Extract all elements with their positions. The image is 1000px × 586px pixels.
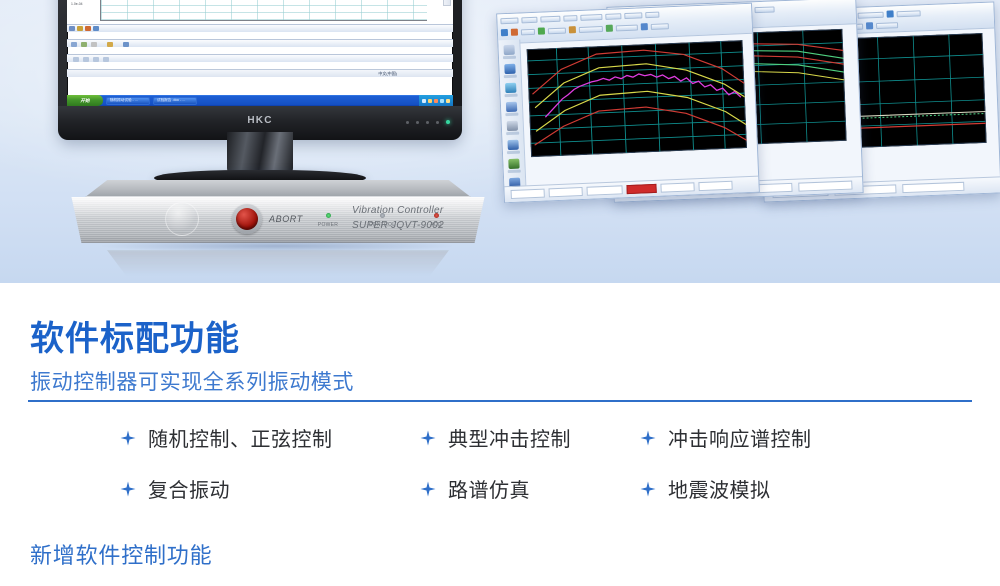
feature-item-0: 随机控制、正弦控制 (120, 423, 420, 452)
product-nameplate: Vibration Controller SUPER JQVT-9002 (352, 204, 444, 233)
system-tray[interactable] (419, 95, 453, 106)
hardware-reflection (92, 250, 464, 280)
monitor: 0.0010 1.0e-04 (58, 0, 462, 140)
taskbar-button-0[interactable]: 随机振动试验 - ... (106, 97, 150, 105)
features-section: 软件标配功能 振动控制器可实现全系列振动模式 随机控制、正弦控制 典型冲击控制 (0, 283, 1000, 586)
feature-item-4: 路谱仿真 (420, 474, 640, 503)
feature-item-2: 冲击响应谱控制 (640, 423, 980, 452)
monitor-indicator-leds (406, 120, 450, 124)
feature-item-3: 复合振动 (120, 474, 420, 503)
plot-random-vibration-psd (527, 40, 747, 157)
power-led (326, 213, 331, 218)
screen-toolbar-1[interactable] (67, 24, 453, 32)
chassis-top-panel (84, 180, 472, 198)
hero-banner: 0.0010 1.0e-04 (0, 0, 1000, 283)
sparkle-icon (640, 481, 656, 497)
feature-label: 冲击响应谱控制 (668, 423, 812, 452)
feature-label: 复合振动 (148, 474, 230, 503)
feature-label: 地震波模拟 (668, 474, 771, 503)
software-window-random-vibration-psd[interactable] (496, 3, 760, 204)
next-section-title: 新增软件控制功能 (30, 545, 212, 567)
screen-vertical-scrollbar[interactable] (443, 0, 451, 6)
sparkle-icon (420, 430, 436, 446)
sparkle-icon (120, 430, 136, 446)
screen-chart-trace (381, 0, 443, 24)
section-subtitle: 振动控制器可实现全系列振动模式 (30, 372, 354, 393)
section-title: 软件标配功能 (30, 322, 240, 356)
product-name-line1: Vibration Controller (352, 204, 444, 219)
feature-label: 典型冲击控制 (448, 423, 571, 452)
product-detail-page: 0.0010 1.0e-04 (0, 0, 1000, 586)
screen-taskbar[interactable]: 开始 随机振动试验 - ... 试验报告 .doc - ... (67, 95, 453, 106)
screen-toolbar-2[interactable] (67, 39, 453, 47)
taskbar-button-1[interactable]: 试验报告 .doc - ... (153, 97, 197, 105)
power-knob[interactable] (165, 202, 199, 236)
screen-chart: 0.0010 1.0e-04 (67, 0, 453, 24)
screen-ime-indicator: 中文(中国) (378, 71, 397, 77)
screen-status-bar: 中文(中国) (67, 69, 453, 77)
sparkle-icon (420, 481, 436, 497)
feature-list: 随机控制、正弦控制 典型冲击控制 冲击响应谱控制 (120, 423, 980, 503)
screen-chart-ytick-1: 1.0e-04 (71, 2, 83, 6)
feature-item-5: 地震波模拟 (640, 474, 980, 503)
screen-toolbar-3[interactable] (67, 54, 453, 62)
feature-item-1: 典型冲击控制 (420, 423, 640, 452)
section-divider (28, 400, 972, 402)
sidebar-1[interactable] (498, 39, 526, 186)
sparkle-icon (640, 430, 656, 446)
power-led-label: POWER (318, 222, 338, 228)
product-name-line2: SUPER JQVT-9002 (352, 219, 444, 234)
abort-button[interactable] (232, 204, 262, 234)
monitor-screen: 0.0010 1.0e-04 (67, 0, 453, 106)
screen-chart-plot (100, 0, 427, 21)
start-button[interactable]: 开始 (67, 95, 103, 106)
vibration-controller-unit: ABORT POWER CONTROL ACQ Vibration Contro… (62, 180, 494, 250)
feature-label: 路谱仿真 (448, 474, 530, 503)
feature-label: 随机控制、正弦控制 (148, 423, 333, 452)
monitor-brand-logo: HKC (247, 115, 272, 126)
abort-button-label: ABORT (269, 214, 303, 224)
sparkle-icon (120, 481, 136, 497)
